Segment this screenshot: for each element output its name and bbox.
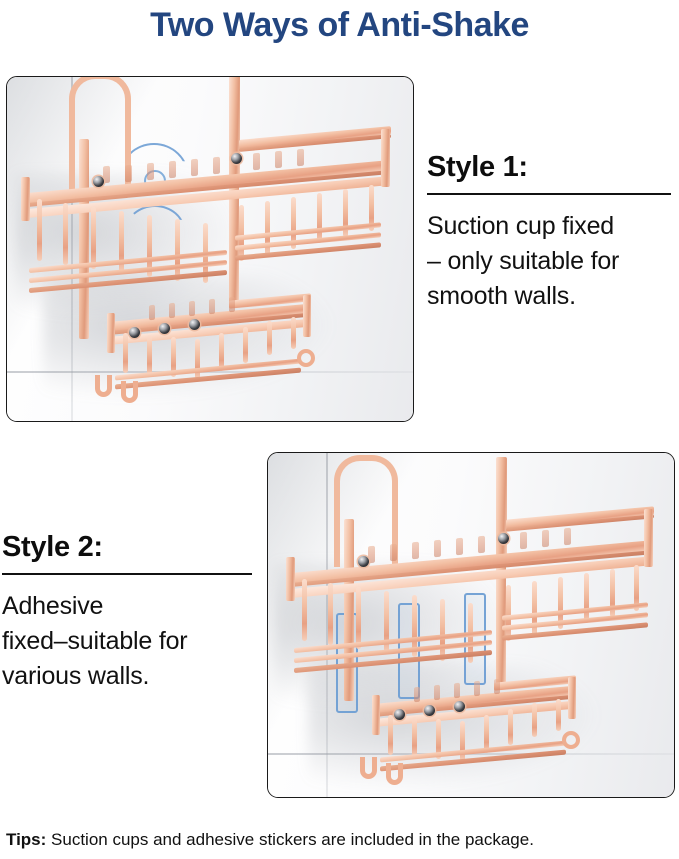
- basket-slot: [414, 687, 420, 703]
- basket-slot: [368, 546, 375, 564]
- basket-wire: [239, 205, 244, 261]
- basket-right-end: [381, 129, 390, 187]
- basket-slot: [297, 149, 304, 167]
- basket-wire: [175, 219, 180, 281]
- basket-slot: [169, 161, 176, 179]
- accessory-hook: [360, 757, 377, 779]
- mounting-screw: [454, 701, 465, 712]
- hanging-rod: [496, 457, 507, 561]
- style-1-text-block: Style 1: Suction cup fixed – only suitab…: [427, 150, 671, 314]
- basket-wire: [328, 583, 333, 645]
- mounting-screw: [498, 533, 509, 544]
- basket-wire: [243, 327, 248, 363]
- basket-slot: [149, 305, 155, 321]
- basket-slot: [456, 538, 463, 556]
- basket-slot: [542, 530, 549, 548]
- hanging-rod: [79, 139, 89, 339]
- style-1-description: Suction cup fixed – only suitable for sm…: [427, 209, 671, 314]
- basket-wire: [460, 721, 465, 761]
- basket-left-end: [107, 313, 115, 353]
- basket-wire: [291, 317, 296, 349]
- basket-right-end: [644, 509, 653, 567]
- basket-slot: [189, 301, 195, 317]
- basket-wire: [37, 199, 42, 261]
- accessory-hook: [95, 375, 112, 397]
- basket-slot: [434, 540, 441, 558]
- basket-slot: [520, 532, 527, 550]
- basket-slot: [434, 685, 440, 701]
- footer-tips: Tips: Suction cups and adhesive stickers…: [6, 828, 675, 852]
- basket-slot: [275, 151, 282, 169]
- basket-wire: [302, 579, 307, 641]
- mounting-screw: [189, 319, 200, 330]
- basket-slot: [564, 528, 571, 546]
- mounting-screw: [129, 327, 140, 338]
- basket-slot: [390, 544, 397, 562]
- basket-slot: [103, 166, 110, 184]
- basket-wire: [147, 335, 152, 375]
- basket-slot: [169, 303, 175, 319]
- basket-wire: [195, 339, 200, 379]
- basket-slot: [147, 163, 154, 181]
- accessory-hook: [121, 381, 138, 403]
- mounting-screw: [231, 153, 242, 164]
- basket-slot: [125, 165, 132, 183]
- mounting-screw: [93, 176, 104, 187]
- basket-slot: [229, 297, 235, 313]
- basket-slot: [474, 681, 480, 697]
- footer-tips-label: Tips:: [6, 830, 46, 849]
- basket-wire: [267, 321, 272, 355]
- basket-wire: [317, 193, 322, 243]
- accessory-hook: [386, 763, 403, 785]
- basket-wire: [412, 717, 417, 757]
- basket-left-end: [286, 557, 295, 601]
- basket-left-end: [372, 695, 380, 735]
- basket-wire: [123, 333, 128, 373]
- basket-right-end: [303, 295, 311, 337]
- basket-wire: [584, 573, 589, 623]
- style-2-description: Adhesive fixed–suitable for various wall…: [2, 589, 252, 694]
- basket-right-end: [568, 677, 576, 719]
- basket-slot: [191, 159, 198, 177]
- basket-wire: [506, 585, 511, 641]
- mounting-screw: [159, 323, 170, 334]
- page-title: Two Ways of Anti-Shake: [0, 2, 679, 48]
- style-2-text-block: Style 2: Adhesive fixed–suitable for var…: [2, 530, 252, 694]
- basket-slot: [412, 542, 419, 560]
- style-2-heading: Style 2:: [2, 530, 252, 564]
- hanging-rod: [344, 519, 354, 701]
- basket-wire: [440, 599, 445, 661]
- hanging-rod: [229, 76, 240, 185]
- basket-slot: [494, 679, 500, 695]
- basket-slot: [454, 683, 460, 699]
- basket-slot: [209, 299, 215, 315]
- basket-wire: [91, 207, 96, 269]
- basket-left-end: [21, 177, 30, 221]
- basket-wire: [556, 699, 561, 731]
- style-2-photo-panel: [267, 452, 675, 798]
- basket-slot: [478, 536, 485, 554]
- basket-wire: [63, 203, 68, 265]
- mounting-screw: [358, 556, 369, 567]
- basket-wire: [532, 703, 537, 737]
- basket-wire: [388, 715, 393, 755]
- accessory-ring: [297, 349, 315, 367]
- style-1-heading: Style 1:: [427, 150, 671, 184]
- basket-slot: [253, 153, 260, 171]
- footer-tips-text: Suction cups and adhesive stickers are i…: [46, 830, 534, 849]
- style-1-photo-panel: [6, 76, 414, 422]
- accessory-ring: [562, 731, 580, 749]
- mounting-screw: [424, 705, 435, 716]
- basket-wire: [356, 587, 361, 649]
- style-2-divider: [2, 573, 252, 575]
- basket-wire: [508, 709, 513, 745]
- mounting-screw: [394, 709, 405, 720]
- style-1-divider: [427, 193, 671, 195]
- basket-slot: [213, 157, 220, 175]
